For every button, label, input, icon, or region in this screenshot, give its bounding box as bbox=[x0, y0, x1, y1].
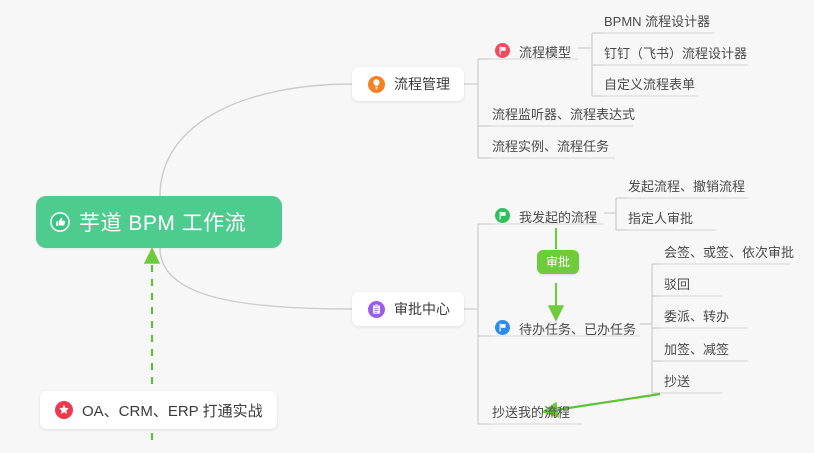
leaf-cc[interactable]: 抄送 bbox=[664, 374, 690, 394]
mindmap-canvas: 芋道 BPM 工作流 流程管理 流程模型 BPMN 流程设计器 钉钉（飞书）流程 bbox=[0, 0, 814, 453]
flag-icon-blue bbox=[492, 317, 512, 337]
leaf-bpmn-designer[interactable]: BPMN 流程设计器 bbox=[604, 14, 710, 34]
topic-my-started-process[interactable]: 我发起的流程 bbox=[492, 205, 597, 230]
topic-label: 流程模型 bbox=[519, 45, 571, 61]
leaf-label: 发起流程、撤销流程 bbox=[628, 179, 745, 195]
clipboard-icon bbox=[366, 299, 386, 319]
leaf-countersign[interactable]: 会签、或签、依次审批 bbox=[664, 245, 794, 265]
branch-label: 流程管理 bbox=[394, 74, 450, 94]
leaf-label: 自定义流程表单 bbox=[604, 77, 695, 93]
star-icon bbox=[54, 400, 74, 420]
topic-label: 我发起的流程 bbox=[519, 210, 597, 226]
topic-label: 流程监听器、流程表达式 bbox=[492, 107, 635, 123]
root-label: 芋道 BPM 工作流 bbox=[79, 207, 246, 237]
lightbulb-icon bbox=[366, 74, 386, 94]
root-node[interactable]: 芋道 BPM 工作流 bbox=[36, 196, 282, 248]
flag-icon-green bbox=[492, 205, 512, 225]
topic-cc-to-me[interactable]: 抄送我的流程 bbox=[492, 405, 570, 425]
topic-process-listener[interactable]: 流程监听器、流程表达式 bbox=[492, 107, 635, 127]
topic-label: 流程实例、流程任务 bbox=[492, 139, 609, 155]
branch-approval-center[interactable]: 审批中心 bbox=[352, 292, 464, 326]
leaf-custom-form[interactable]: 自定义流程表单 bbox=[604, 77, 695, 97]
topic-todo-done-tasks[interactable]: 待办任务、已办任务 bbox=[492, 317, 636, 342]
leaf-label: 抄送 bbox=[664, 374, 690, 390]
leaf-label: 钉钉（飞书）流程设计器 bbox=[604, 46, 747, 62]
leaf-dingtalk-designer[interactable]: 钉钉（飞书）流程设计器 bbox=[604, 46, 747, 66]
leaf-label: 驳回 bbox=[664, 277, 690, 293]
topic-label: 待办任务、已办任务 bbox=[519, 322, 636, 338]
leaf-reject[interactable]: 驳回 bbox=[664, 277, 690, 297]
topic-process-model[interactable]: 流程模型 bbox=[492, 40, 571, 65]
thumbs-up-icon bbox=[50, 212, 70, 232]
leaf-start-cancel-process[interactable]: 发起流程、撤销流程 bbox=[628, 179, 745, 199]
leaf-delegate-transfer[interactable]: 委派、转办 bbox=[664, 309, 729, 329]
bottom-card-label: OA、CRM、ERP 打通实战 bbox=[82, 400, 263, 421]
branch-process-management[interactable]: 流程管理 bbox=[352, 67, 464, 101]
leaf-label: 会签、或签、依次审批 bbox=[664, 245, 794, 261]
leaf-label: 委派、转办 bbox=[664, 309, 729, 325]
leaf-label: BPMN 流程设计器 bbox=[604, 14, 710, 30]
leaf-label: 指定人审批 bbox=[628, 211, 693, 227]
approval-flow-badge: 审批 bbox=[537, 250, 579, 274]
flag-icon-red bbox=[492, 40, 512, 60]
topic-label: 抄送我的流程 bbox=[492, 405, 570, 421]
bottom-highlight-card[interactable]: OA、CRM、ERP 打通实战 bbox=[40, 391, 277, 429]
branch-label: 审批中心 bbox=[394, 299, 450, 319]
leaf-add-remove-sign[interactable]: 加签、减签 bbox=[664, 342, 729, 362]
topic-process-instance[interactable]: 流程实例、流程任务 bbox=[492, 139, 609, 159]
leaf-designated-approver[interactable]: 指定人审批 bbox=[628, 211, 693, 231]
leaf-label: 加签、减签 bbox=[664, 342, 729, 358]
